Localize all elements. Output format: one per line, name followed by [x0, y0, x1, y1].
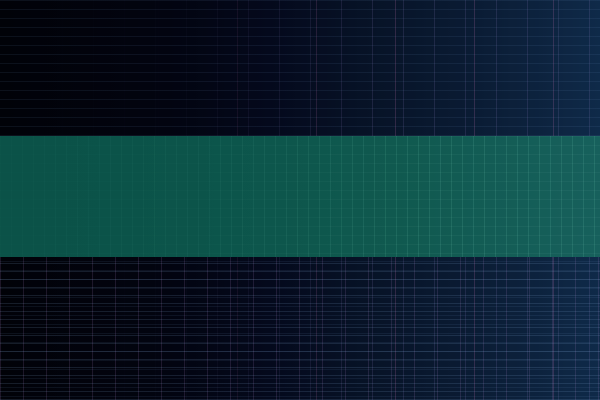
band-gridlines [0, 136, 600, 257]
screenshot-canvas [0, 0, 600, 400]
lower-candle-series [0, 250, 600, 400]
headline-band [0, 136, 600, 257]
